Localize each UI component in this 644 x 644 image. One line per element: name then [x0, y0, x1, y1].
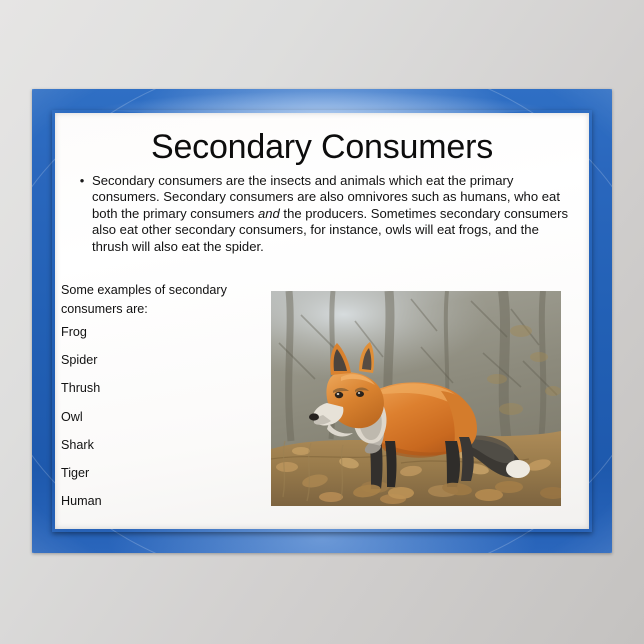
list-item: Thrush [61, 381, 261, 395]
list-item: Owl [61, 410, 261, 424]
body-paragraph: Secondary consumers are the insects and … [92, 173, 577, 255]
red-fox-illustration [271, 291, 561, 506]
slide-canvas: Secondary Consumers • Secondary consumer… [55, 113, 589, 529]
poster-frame: Secondary Consumers • Secondary consumer… [32, 89, 612, 553]
examples-list: Frog Spider Thrush Owl Shark Tiger Human [61, 325, 261, 522]
list-item: Shark [61, 438, 261, 452]
list-item: Spider [61, 353, 261, 367]
list-item: Human [61, 494, 261, 508]
body-paragraph-block: • Secondary consumers are the insects an… [72, 173, 577, 255]
red-fox-photo [271, 291, 561, 506]
examples-intro-text: Some examples of secondary consumers are… [61, 281, 276, 319]
bullet-glyph-icon: • [72, 173, 92, 255]
list-item: Frog [61, 325, 261, 339]
body-text-italic-and: and [258, 206, 280, 221]
slide-bevel-border: Secondary Consumers • Secondary consumer… [52, 110, 592, 532]
page-title: Secondary Consumers [55, 128, 589, 167]
list-item: Tiger [61, 466, 261, 480]
